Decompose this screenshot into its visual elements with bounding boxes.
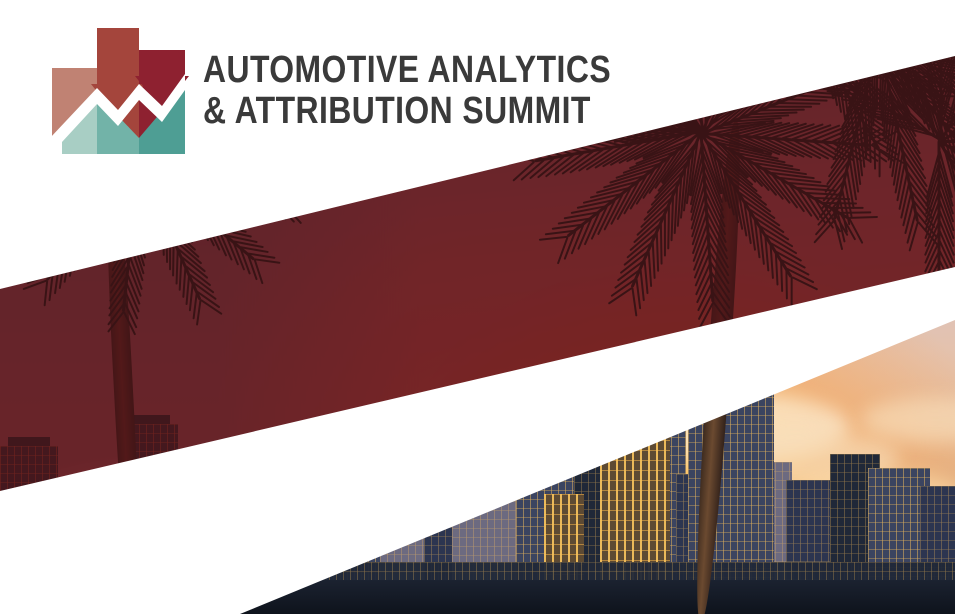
logo-wordmark: AUTOMOTIVE ANALYTICS & ATTRIBUTION SUMMI… bbox=[203, 50, 689, 132]
logo: AUTOMOTIVE ANALYTICS & ATTRIBUTION SUMMI… bbox=[50, 28, 689, 154]
bar-chart-arrow-mark bbox=[50, 28, 185, 154]
logo-title-line-2: & ATTRIBUTION SUMMIT bbox=[203, 91, 611, 132]
event-banner: AUTOMOTIVE ANALYTICS & ATTRIBUTION SUMMI… bbox=[0, 0, 955, 614]
logo-title-line-1: AUTOMOTIVE ANALYTICS bbox=[203, 50, 611, 91]
